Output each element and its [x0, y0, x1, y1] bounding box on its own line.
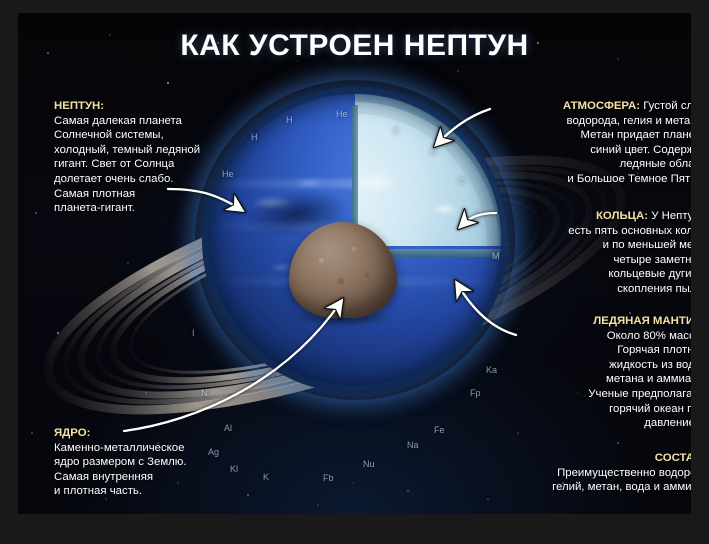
- callout-rings: КОЛЬЦА: У Нептуна есть пять основных кол…: [488, 209, 691, 297]
- element-symbol: I: [192, 328, 195, 338]
- element-symbol: Fb: [323, 473, 334, 483]
- element-symbol: C: [393, 126, 400, 136]
- element-symbol: Nu: [363, 459, 375, 469]
- callout-core-heading: ЯДРО:: [54, 427, 90, 439]
- callout-rings-body: есть пять основных колеци по меньшей мер…: [488, 224, 691, 297]
- callout-composition: СОСТАВ: Преимущественно водород,гелий, м…: [488, 451, 691, 495]
- callout-composition-heading: СОСТАВ:: [488, 451, 691, 466]
- planet-body: [202, 87, 508, 393]
- callout-rings-heading: КОЛЬЦА:: [596, 210, 648, 222]
- element-symbol: He: [336, 109, 348, 119]
- element-symbol: N: [430, 147, 437, 157]
- callout-atmosphere-body: водорода, гелия и метана.Метан придает п…: [488, 114, 691, 187]
- element-symbol: K: [263, 472, 269, 482]
- callout-rings-firstline: У Нептуна: [651, 210, 691, 222]
- callout-mantle-body: Около 80% массы.Горячая плотнаяжидкость …: [488, 329, 691, 431]
- image-frame: HHeHCNHeOCMKaFpFeNaNuFbKAlAgKlNI КАК УСТ…: [0, 0, 709, 544]
- callout-composition-body: Преимущественно водород,гелий, метан, во…: [488, 466, 691, 495]
- callout-atmosphere: АТМОСФЕРА: Густой слой водорода, гелия и…: [488, 99, 691, 187]
- infographic-canvas: HHeHCNHeOCMKaFpFeNaNuFbKAlAgKlNI КАК УСТ…: [18, 13, 691, 514]
- callout-mantle: ЛЕДЯНАЯ МАНТИЯ: Около 80% массы.Горячая …: [488, 314, 691, 431]
- callout-neptune: НЕПТУН: Самая далекая планетаСолнечной с…: [54, 99, 239, 216]
- element-symbol: O: [458, 176, 465, 186]
- callout-mantle-heading: ЛЕДЯНАЯ МАНТИЯ:: [488, 314, 691, 329]
- element-symbol: C: [476, 209, 483, 219]
- callout-core: ЯДРО: Каменно-металлическоеядро размером…: [54, 426, 254, 499]
- element-symbol: H: [251, 132, 258, 142]
- callout-neptune-heading: НЕПТУН:: [54, 100, 104, 112]
- planet-limb-shading: [202, 87, 508, 393]
- element-symbol: H: [286, 115, 293, 125]
- callout-neptune-body: Самая далекая планетаСолнечной системы,х…: [54, 114, 239, 216]
- element-symbol: Fe: [434, 425, 445, 435]
- callout-core-body: Каменно-металлическоеядро размером с Зем…: [54, 441, 254, 499]
- callout-atmosphere-firstline: Густой слой: [643, 100, 691, 112]
- element-symbol: N: [201, 388, 208, 398]
- element-symbol: Fp: [470, 388, 481, 398]
- callout-atmosphere-heading: АТМОСФЕРА:: [563, 100, 640, 112]
- element-symbol: Na: [407, 440, 419, 450]
- page-title: КАК УСТРОЕН НЕПТУН: [18, 29, 691, 63]
